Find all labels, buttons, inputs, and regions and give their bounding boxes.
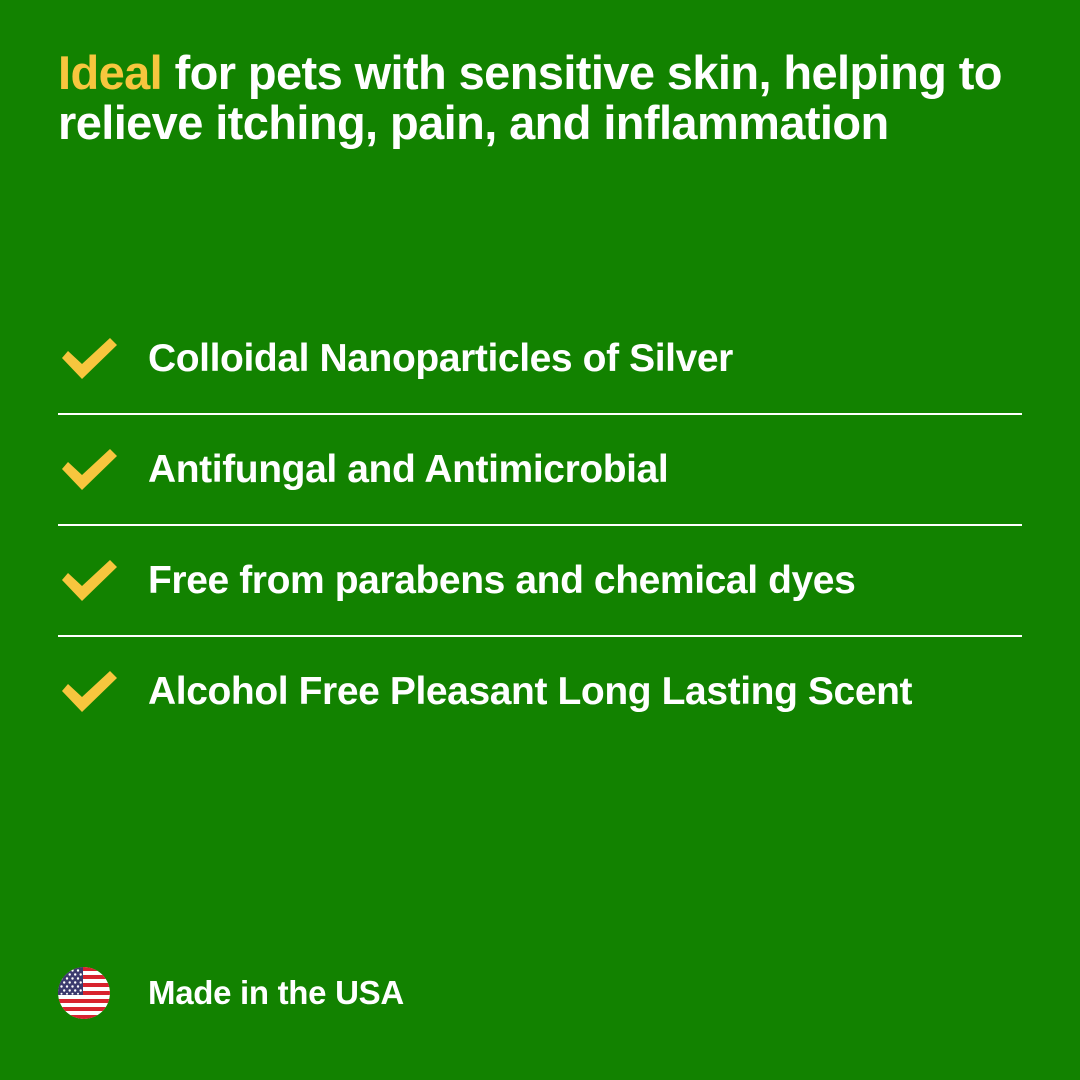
check-icon [58,556,122,606]
list-item: Antifungal and Antimicrobial [58,437,1022,502]
check-icon [58,445,122,495]
list-item: Alcohol Free Pleasant Long Lasting Scent [58,659,1022,724]
spacer [58,415,1022,437]
made-in-usa-label: Made in the USA [148,967,404,1019]
list-item: Colloidal Nanoparticles of Silver [58,326,1022,391]
check-icon [58,667,122,717]
list-item-label: Alcohol Free Pleasant Long Lasting Scent [148,659,1022,724]
headline-rest: for pets with sensitive skin, helping to… [58,46,1002,149]
page-title: Ideal for pets with sensitive skin, help… [58,48,1018,148]
check-icon [58,334,122,384]
list-item-label: Free from parabens and chemical dyes [148,548,1022,613]
usa-flag-icon [58,967,110,1019]
spacer [58,637,1022,659]
headline-accent-word: Ideal [58,46,162,99]
spacer [58,391,1022,413]
list-item-label: Antifungal and Antimicrobial [148,437,1022,502]
spacer [58,526,1022,548]
made-in-usa-badge: Made in the USA [58,967,404,1019]
spacer [58,502,1022,524]
list-item-label: Colloidal Nanoparticles of Silver [148,326,1022,391]
list-item: Free from parabens and chemical dyes [58,548,1022,613]
promo-card: Ideal for pets with sensitive skin, help… [0,0,1080,1080]
spacer [58,613,1022,635]
feature-list: Colloidal Nanoparticles of Silver Antifu… [58,326,1022,724]
